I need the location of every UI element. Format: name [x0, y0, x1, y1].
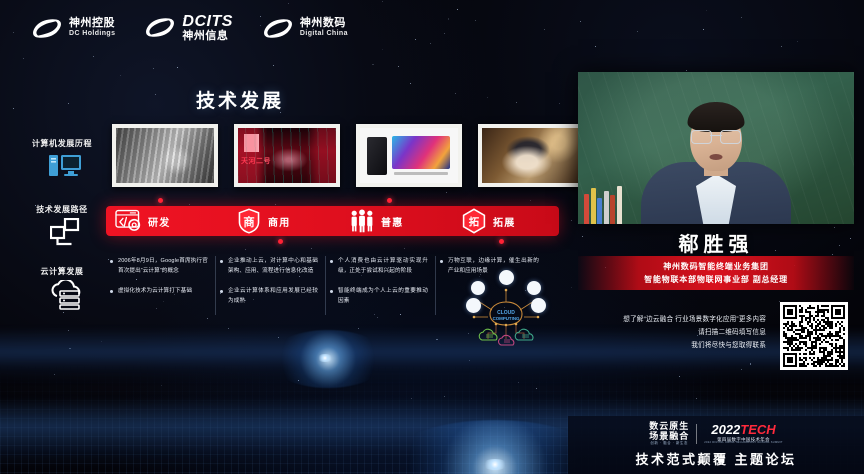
- row-label-tech-path: 技术发展路径: [24, 204, 100, 215]
- timeline-label: 普惠: [381, 214, 403, 229]
- desktop-computer-icon: [48, 152, 82, 185]
- logo-label-cn: 神州控股: [69, 18, 115, 30]
- photo-tianhe-supercomputer: 天河二号: [234, 124, 340, 187]
- swirl-icon: [145, 17, 175, 38]
- speaker-title-line2: 智能物联本部物联网事业部 副总经理: [644, 274, 788, 285]
- shield-shang-icon: 商: [234, 208, 264, 234]
- contact-line-2: 请扫描二维码填写信息: [578, 327, 766, 340]
- diagram-node-applications: [527, 281, 541, 295]
- svg-text:商: 商: [243, 215, 254, 229]
- bullet-column-2: 企业推动上云，对计算中心和基础架构、应用、流程进行信息化改造 企业云计算体系和应…: [216, 256, 326, 315]
- photo-early-computer: [112, 124, 218, 187]
- logo-digital-china: 神州数码 Digital China: [263, 18, 348, 39]
- swirl-icon: [32, 18, 62, 39]
- technology-timeline: 研发 商 商用 普惠: [106, 206, 559, 236]
- speaker-video[interactable]: [578, 72, 854, 224]
- slide-title: 技术发展: [196, 86, 284, 113]
- bullet-column-3: 个人消费也由云计算驱动实现升级，正处于尝试和兴起的阶段 智能终端成为个人上云的重…: [326, 256, 436, 315]
- logo-label-cn: 神州数码: [300, 18, 348, 30]
- conference-logo: 数云原生 场景融合 创新 · 融合 · 新生态 2022TECH 第四届数字中国…: [649, 422, 783, 445]
- contact-line-1: 想了解“边云融合 行业场景数字化应用”更多内容: [578, 314, 766, 327]
- contact-text: 想了解“边云融合 行业场景数字化应用”更多内容 请扫描二维码填写信息 我们将尽快…: [578, 314, 766, 353]
- contact-block: 想了解“边云融合 行业场景数字化应用”更多内容 请扫描二维码填写信息 我们将尽快…: [578, 302, 854, 374]
- top-logo-bar: 神州控股 DC Holdings DCITS 神州信息 神州数码 Digital…: [0, 0, 864, 56]
- people-group-icon: [347, 208, 377, 234]
- bullet-item: 个人消费也由云计算驱动实现升级，正处于尝试和兴起的阶段: [330, 256, 428, 277]
- speaker-panel: 郗胜强 神州数码智能终端业务集团 智能物联本部物联网事业部 副总经理 想了解“边…: [568, 56, 864, 474]
- timeline-stage-expansion[interactable]: 拓 拓展: [451, 206, 559, 236]
- photo-strip: 天河二号: [112, 124, 584, 187]
- logo-label-en: DC Holdings: [69, 30, 115, 38]
- logo-label-en: Digital China: [300, 30, 348, 38]
- timeline-label: 拓展: [493, 214, 515, 229]
- diagram-node-network: [531, 298, 546, 313]
- logo-dc-holdings: 神州控股 DC Holdings: [32, 18, 115, 39]
- logo-label-cn: 神州信息: [182, 31, 233, 43]
- hexagon-tuo-icon: 拓: [459, 208, 489, 234]
- diagram-node-storage: [499, 270, 514, 285]
- slide-content: 技术发展 计算机发展历程 技术发展路径 云计算发展: [0, 58, 568, 358]
- timeline-label: 商用: [268, 214, 290, 229]
- divider: [696, 424, 697, 444]
- books-decor: [584, 182, 624, 224]
- forum-theme: 技术范式颠覆 主题论坛: [635, 449, 796, 468]
- bullet-item: 企业推动上云，对计算中心和基础架构、应用、流程进行信息化改造: [220, 256, 318, 277]
- speaker-title-bar: 神州数码智能终端业务集团 智能物联本部物联网事业部 副总经理: [578, 256, 854, 290]
- speaker-figure: [641, 92, 791, 224]
- svg-text:COMPUTING: COMPUTING: [493, 316, 520, 321]
- eyeglasses-icon: [691, 130, 741, 142]
- qr-code[interactable]: [780, 302, 848, 370]
- light-core-lower: [482, 459, 508, 470]
- photo-pc-monitor: [356, 124, 462, 187]
- timeline-label: 研发: [148, 214, 170, 229]
- bullet-item: 企业云计算体系和应用发展已经较为成熟: [220, 286, 318, 307]
- logo-dcits: DCITS 神州信息: [145, 13, 233, 42]
- contact-line-3: 我们将尽快与您取得联系: [578, 340, 766, 353]
- timeline-dot: [387, 198, 392, 203]
- swirl-icon: [263, 18, 293, 39]
- speaker-name: 郗胜强: [568, 228, 864, 257]
- diagram-node-database: [466, 298, 481, 313]
- timeline-stage-commercial[interactable]: 商 商用: [226, 206, 339, 236]
- code-gear-icon: [114, 208, 144, 234]
- conference-year: 2022TECH: [704, 423, 783, 437]
- diagram-node-servers: [471, 281, 485, 295]
- cloud-development-section: 2006年8月9日，Google首席执行官首次提出“云计算”的概念 虚拟化技术为…: [0, 254, 568, 358]
- conference-logo-line2: 场景融合: [649, 432, 689, 441]
- timeline-dot: [158, 198, 163, 203]
- conference-sub-en: 2022 DIGITAL CHINA TECHNOLOGY ANNUAL SUM…: [704, 442, 783, 445]
- cloud-computing-diagram: CLOUD COMPUTING: [452, 268, 560, 354]
- speaker-title-line1: 神州数码智能终端业务集团: [663, 261, 769, 272]
- photo-caption: 天河二号: [241, 156, 271, 166]
- bullet-item: 2006年8月9日，Google首席执行官首次提出“云计算”的概念: [110, 256, 208, 277]
- bullet-item: 智能终端成为个人上云的重要推动因素: [330, 286, 428, 307]
- bullet-item: 虚拟化技术为云计算打下基础: [110, 286, 208, 296]
- presentation-screen: 神州控股 DC Holdings DCITS 神州信息 神州数码 Digital…: [0, 0, 864, 474]
- conference-logo-sub: 创新 · 融合 · 新生态: [649, 442, 689, 446]
- timeline-stage-rd[interactable]: 研发: [106, 206, 226, 236]
- bullet-column-1: 2006年8月9日，Google首席执行官首次提出“云计算”的概念 虚拟化技术为…: [106, 256, 216, 315]
- timeline-stage-inclusive[interactable]: 普惠: [339, 206, 451, 236]
- conference-footer: 数云原生 场景融合 创新 · 融合 · 新生态 2022TECH 第四届数字中国…: [568, 416, 864, 474]
- timeline-dot: [499, 239, 504, 244]
- logo-label-en: DCITS: [182, 13, 233, 30]
- row-label-computer-history: 计算机发展历程: [24, 138, 100, 149]
- svg-text:拓: 拓: [469, 215, 480, 228]
- flow-path-icon: [50, 218, 80, 251]
- timeline-dot: [278, 239, 283, 244]
